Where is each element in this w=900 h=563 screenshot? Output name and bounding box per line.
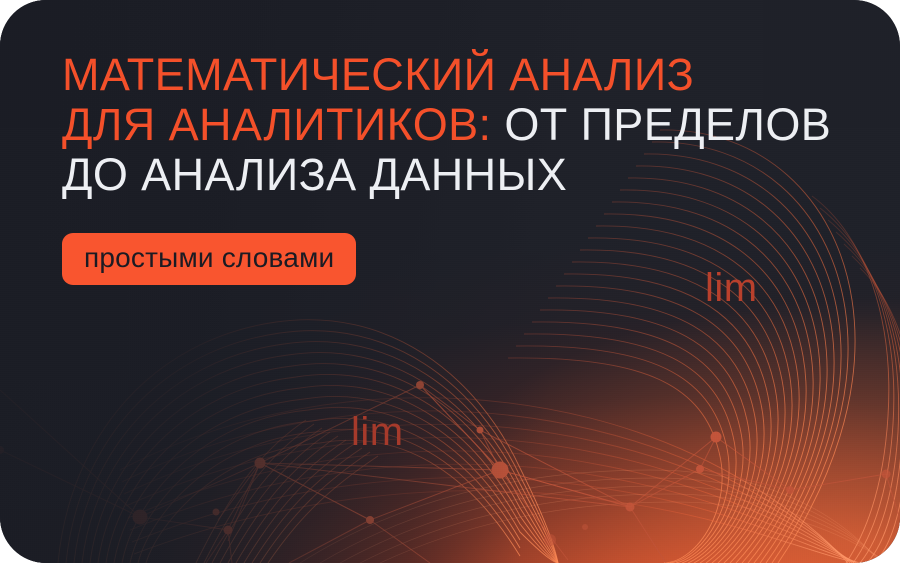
- title-line-2: ДЛЯ АНАЛИТИКОВ: ОТ ПРЕДЕЛОВ: [62, 100, 852, 150]
- lim-label-lower: lim: [351, 412, 404, 452]
- title-line-2-plain: ОТ ПРЕДЕЛОВ: [491, 99, 831, 150]
- promo-banner: lim lim МАТЕМАТИЧЕСКИЙ АНАЛИЗ ДЛЯ АНАЛИТ…: [0, 0, 900, 563]
- title-line-3: ДО АНАЛИЗА ДАННЫХ: [62, 150, 852, 200]
- headline-block: МАТЕМАТИЧЕСКИЙ АНАЛИЗ ДЛЯ АНАЛИТИКОВ: ОТ…: [62, 50, 852, 285]
- title-line-1-text: МАТЕМАТИЧЕСКИЙ АНАЛИЗ: [62, 49, 694, 100]
- title-line-1: МАТЕМАТИЧЕСКИЙ АНАЛИЗ: [62, 50, 852, 100]
- title-line-2-accent: ДЛЯ АНАЛИТИКОВ:: [62, 99, 491, 150]
- simple-words-badge[interactable]: простыми словами: [62, 233, 356, 285]
- page-title: МАТЕМАТИЧЕСКИЙ АНАЛИЗ ДЛЯ АНАЛИТИКОВ: ОТ…: [62, 50, 852, 200]
- title-line-3-text: ДО АНАЛИЗА ДАННЫХ: [62, 149, 567, 200]
